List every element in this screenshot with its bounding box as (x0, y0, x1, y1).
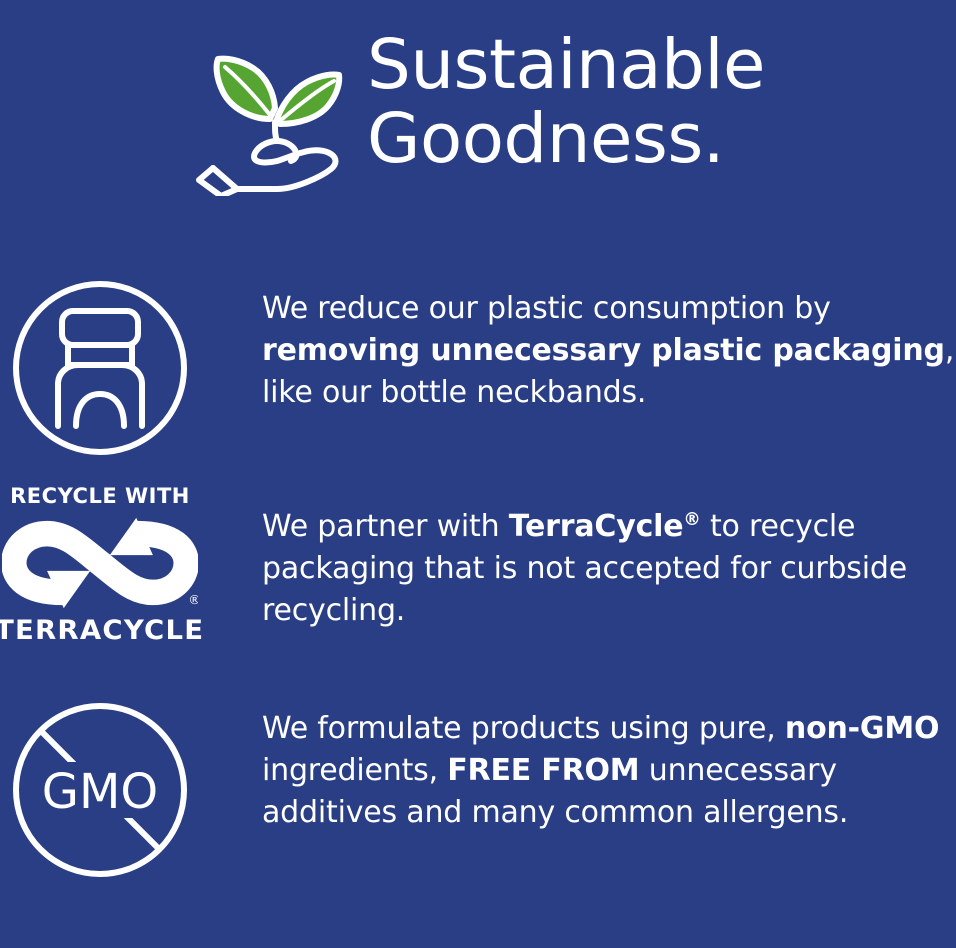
text-segment-bold: FREE FROM (447, 753, 639, 788)
gmo-label: GMO (42, 764, 158, 820)
row-icon-slot: RECYCLE WITH ® TE (0, 484, 200, 646)
text-segment: We reduce our plastic consumption by (262, 291, 831, 326)
hand-holding-sprout-icon (191, 46, 359, 196)
page-title: Sustainable Goodness. (367, 28, 765, 176)
recycle-infinity-arrows-icon: ® (2, 514, 198, 612)
benefit-row-plastic-reduction: We reduce our plastic consumption by rem… (0, 278, 956, 458)
benefit-row-terracycle: RECYCLE WITH ® TE (0, 484, 956, 646)
terracycle-logo: RECYCLE WITH ® TE (2, 484, 198, 646)
sustainable-goodness-infographic: Sustainable Goodness. We reduce our plas… (0, 0, 956, 948)
text-segment-bold: TerraCycle (509, 509, 684, 544)
benefit-text-plastic-reduction: We reduce our plastic consumption by rem… (200, 278, 956, 414)
svg-text:®: ® (188, 593, 198, 608)
row-icon-slot: GMO (0, 700, 200, 880)
benefit-text-non-gmo: We formulate products using pure, non-GM… (200, 700, 956, 834)
bottle-neckband-circle-icon (10, 278, 190, 458)
header: Sustainable Goodness. (0, 28, 956, 208)
no-gmo-circle-icon: GMO (10, 700, 190, 880)
benefit-row-non-gmo: GMO We formulate products using pure, no… (0, 700, 956, 880)
terracycle-top-label: RECYCLE WITH (10, 484, 190, 508)
benefit-text-terracycle: We partner with TerraCycle® to recycle p… (200, 484, 956, 632)
registered-trademark-mark: ® (683, 510, 700, 530)
row-icon-slot (0, 278, 200, 458)
text-segment-bold: non-GMO (785, 711, 939, 746)
text-segment: ingredients, (262, 753, 447, 788)
text-segment-bold: removing unnecessary plastic packaging (262, 333, 945, 368)
text-segment: We partner with (262, 509, 509, 544)
text-segment: We formulate products using pure, (262, 711, 785, 746)
terracycle-bottom-label: TERRACYCLE (0, 616, 205, 646)
